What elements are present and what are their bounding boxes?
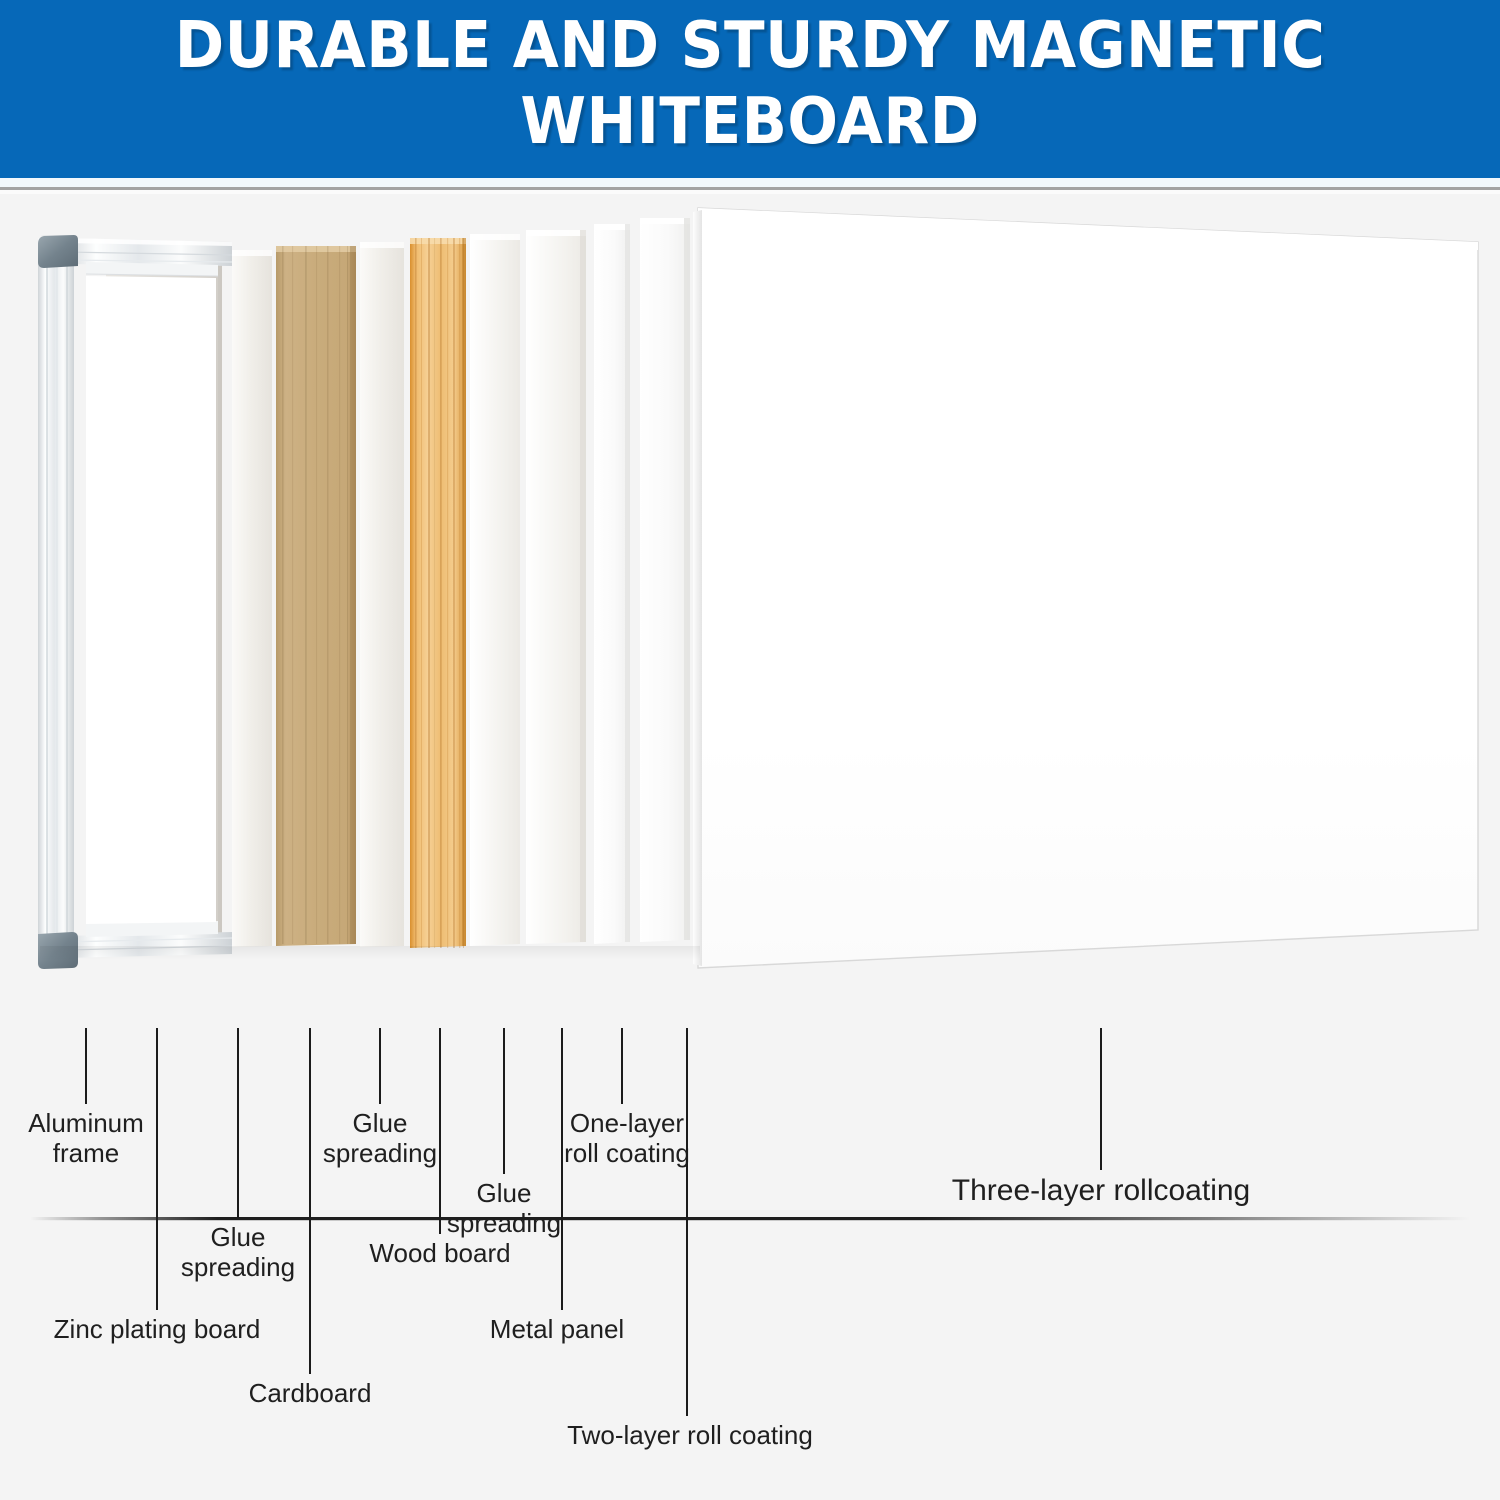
layer-two-layer-roll-coating [640,218,690,942]
layer-glue-spreading-1 [232,250,272,947]
callout-leader-line-three-layer-rollcoating [1100,1028,1102,1170]
layer-glue-spreading-2 [360,242,404,947]
callout-leader-line-zinc-plating-board [156,1028,158,1310]
header-divider-light [0,178,1500,187]
layer-wood-board [410,238,466,948]
callout-leader-line-glue-spreading-3 [503,1028,505,1174]
callout-label-zinc-plating-board: Zinc plating board [54,1314,261,1344]
layer-three-layer-rollcoating [693,208,1478,968]
layer-one-layer-roll-coating [594,224,630,944]
callout-label-one-layer-roll-coating: One-layer roll coating [564,1108,690,1168]
layer-glue-spreading-3 [470,234,520,946]
callout-label-aluminum-frame: Aluminum frame [28,1108,144,1168]
callout-label-glue-spreading-3: Glue spreading [447,1178,561,1238]
callout-axis-line [30,1217,1470,1220]
layer-cardboard [276,246,356,946]
callout-label-metal-panel: Metal panel [490,1314,624,1344]
callout-label-glue-spreading-1: Glue spreading [181,1222,295,1282]
callout-label-three-layer-rollcoating: Three-layer rollcoating [952,1174,1250,1208]
callout-label-two-layer-roll-coating: Two-layer roll coating [567,1420,813,1450]
callout-leader-line-aluminum-frame [85,1028,87,1104]
callout-leader-line-metal-panel [561,1028,563,1310]
frame-corner-cap-top [38,235,78,268]
callout-leader-line-one-layer-roll-coating [621,1028,623,1104]
exploded-layer-diagram: Aluminum frameZinc plating boardGlue spr… [0,194,1500,1500]
callout-leader-line-glue-spreading-1 [237,1028,239,1218]
layer-metal-panel [526,230,586,944]
whiteboard-front-panel [0,194,1500,1014]
page-title: DURABLE AND STURDY MAGNETIC WHITEBOARD [53,8,1448,160]
callout-label-wood-board: Wood board [369,1238,510,1268]
product-infographic: DURABLE AND STURDY MAGNETIC WHITEBOARD [0,0,1500,1500]
callout-leader-line-cardboard [309,1028,311,1374]
callout-label-cardboard: Cardboard [249,1378,372,1408]
callout-leader-line-wood-board [439,1028,441,1234]
aluminum-frame [38,235,232,969]
header-banner: DURABLE AND STURDY MAGNETIC WHITEBOARD [0,0,1500,178]
callout-leader-line-glue-spreading-2 [379,1028,381,1104]
callout-label-glue-spreading-2: Glue spreading [323,1108,437,1168]
callout-leader-line-two-layer-roll-coating [686,1028,688,1416]
